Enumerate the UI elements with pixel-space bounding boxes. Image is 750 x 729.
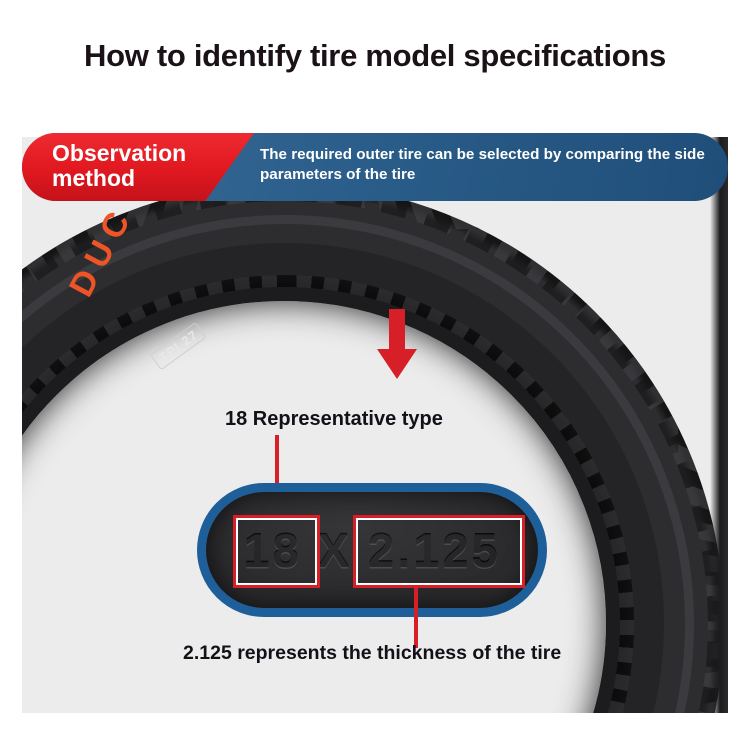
callout-label-bottom: 2.125 represents the thickness of the ti… bbox=[183, 642, 561, 665]
content-panel: DUC YS TPI 27 18 Representative type 18 … bbox=[22, 137, 728, 713]
infographic-page: How to identify tire model specification… bbox=[0, 0, 750, 729]
callout-label-top: 18 Representative type bbox=[225, 408, 443, 431]
observation-method-banner: Observation method The required outer ti… bbox=[22, 133, 728, 201]
highlight-box-model-number bbox=[233, 515, 320, 588]
highlight-box-thickness bbox=[353, 515, 525, 588]
page-title: How to identify tire model specification… bbox=[0, 38, 750, 74]
banner-description: The required outer tire can be selected … bbox=[260, 145, 710, 185]
leader-line-bottom bbox=[414, 586, 418, 648]
red-down-arrow-icon bbox=[375, 309, 419, 379]
banner-badge-label: Observation method bbox=[52, 141, 237, 191]
tire-bead-line bbox=[22, 215, 694, 713]
